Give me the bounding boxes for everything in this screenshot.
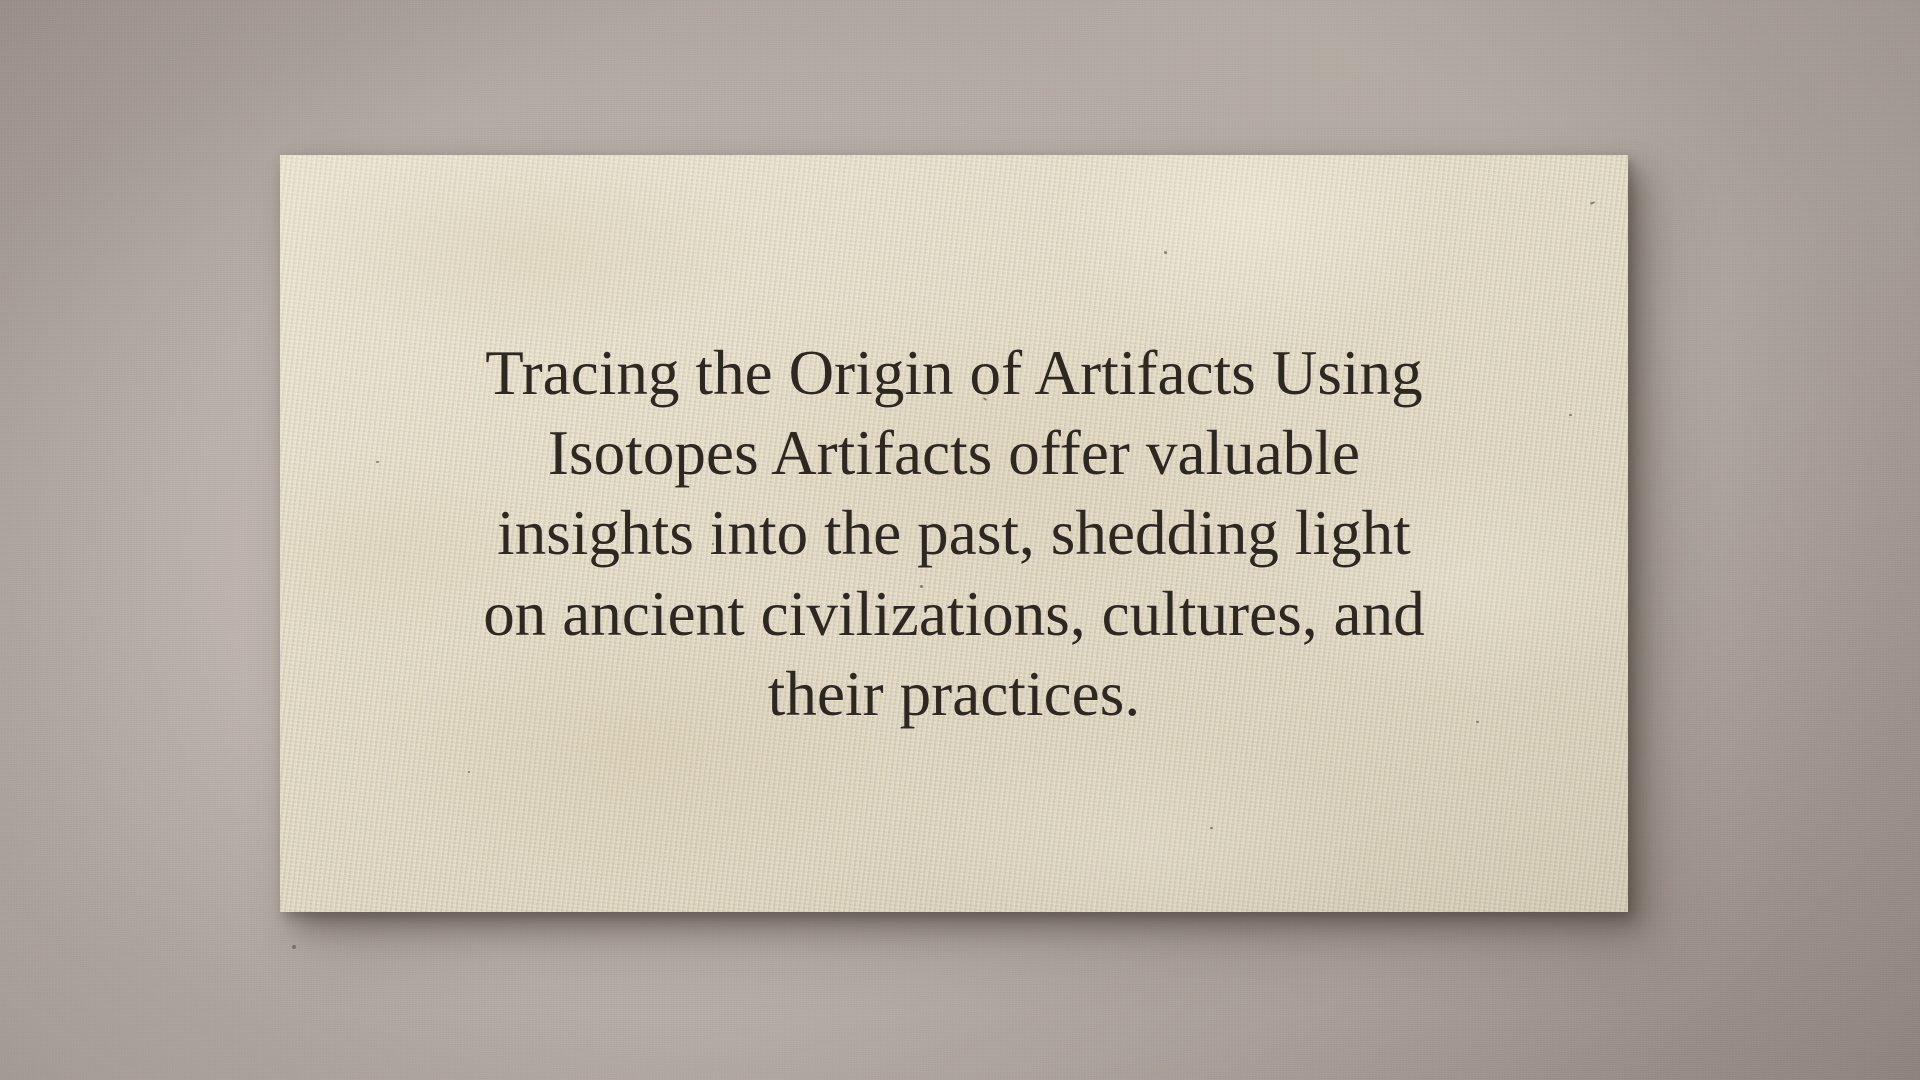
headline-line-1: Tracing the Origin of Artifacts Using — [483, 333, 1425, 413]
card-text-block: Tracing the Origin of Artifacts Using Is… — [280, 155, 1628, 912]
background-speck — [292, 945, 296, 949]
headline-line-4: on ancient civilizations, cultures, and — [483, 574, 1425, 654]
slide-stage: Tracing the Origin of Artifacts Using Is… — [0, 0, 1920, 1080]
headline-line-5: their practices. — [483, 654, 1425, 734]
headline-line-3: insights into the past, shedding light — [483, 493, 1425, 573]
page-title: Tracing the Origin of Artifacts Using Is… — [483, 333, 1425, 735]
headline-line-2: Isotopes Artifacts offer valuable — [483, 413, 1425, 493]
paper-card: Tracing the Origin of Artifacts Using Is… — [280, 155, 1628, 912]
